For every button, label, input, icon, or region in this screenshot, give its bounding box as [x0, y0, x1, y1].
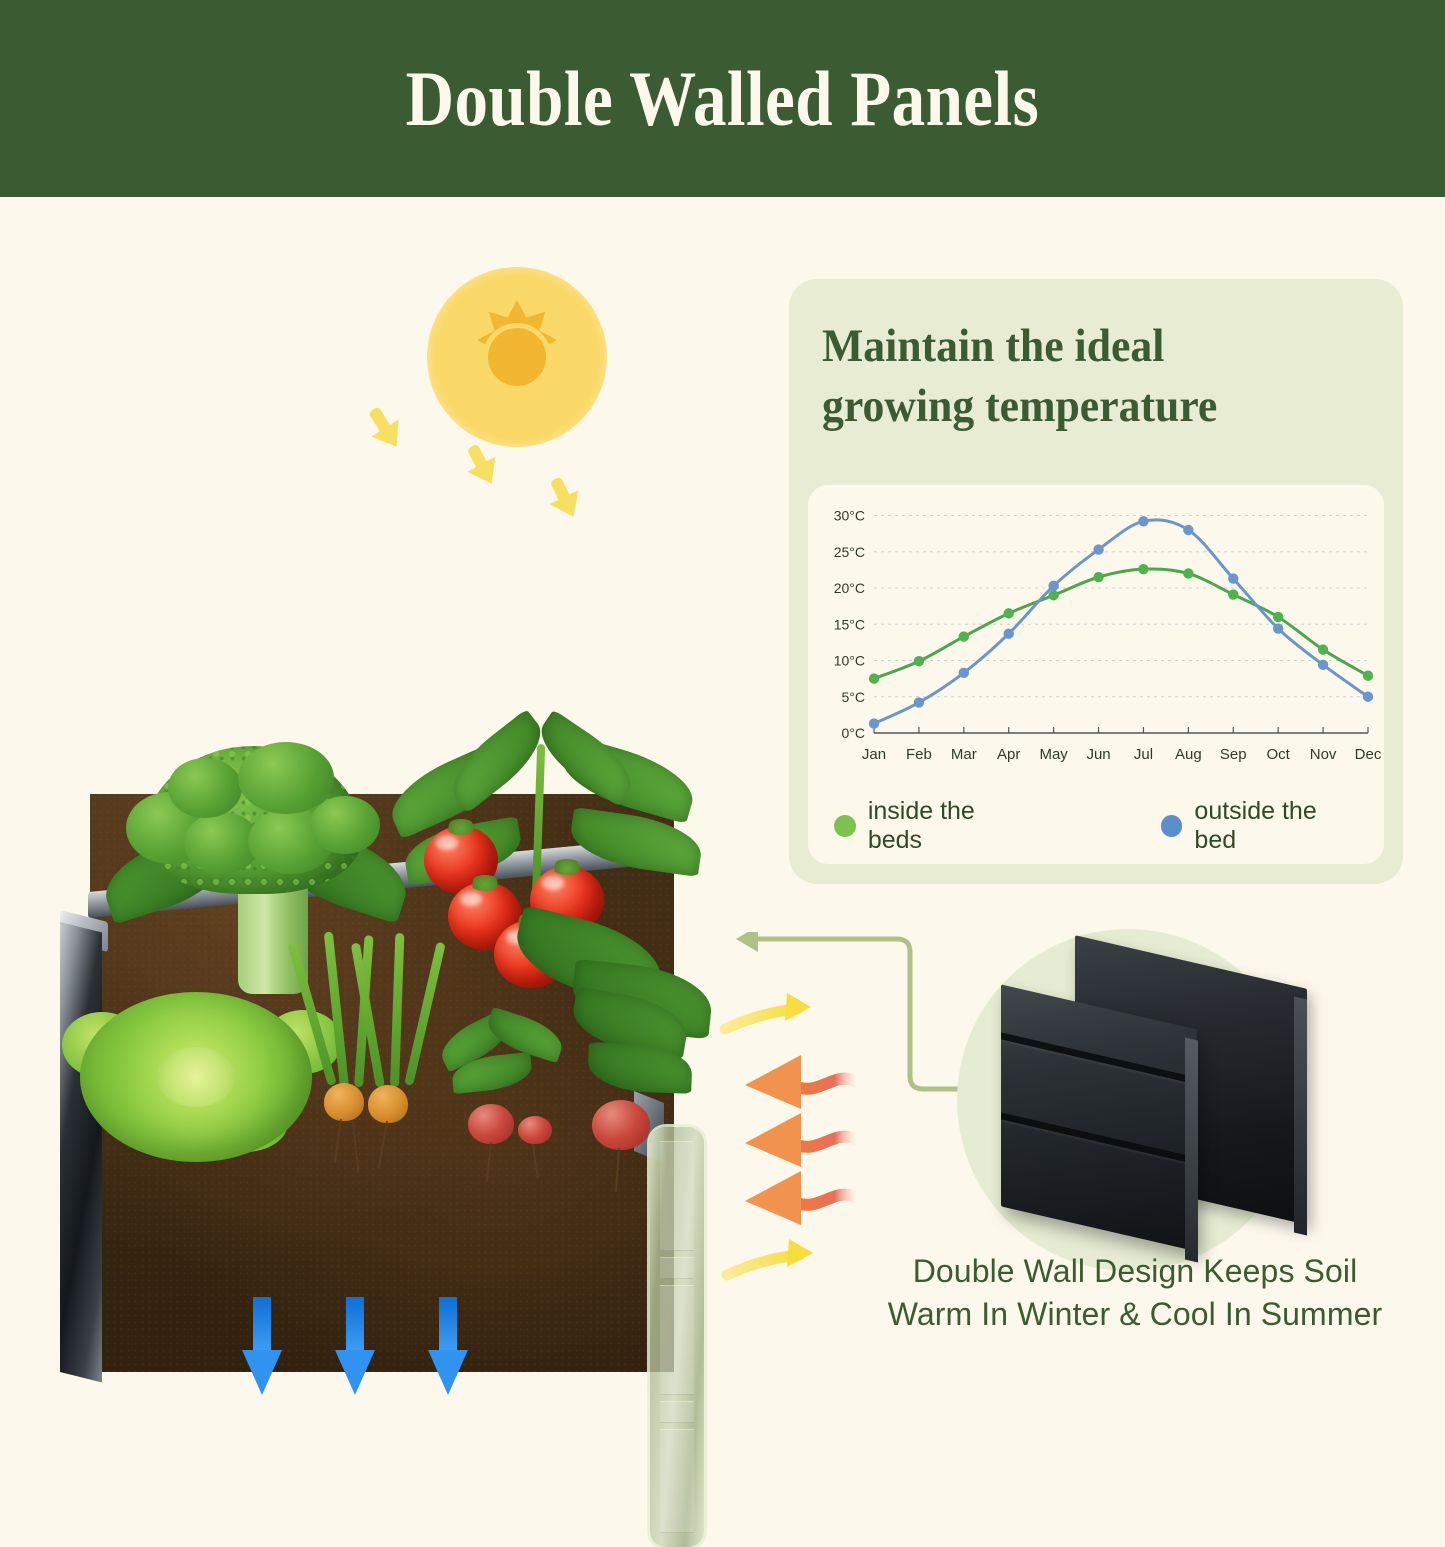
data-point [869, 718, 879, 728]
panel-caption-line-1: Double Wall Design Keeps Soil [855, 1250, 1415, 1293]
data-point [1228, 589, 1238, 599]
x-axis-tick-label: Mar [951, 746, 977, 763]
data-point [1318, 644, 1328, 654]
page-title: Double Walled Panels [406, 54, 1040, 144]
x-axis-tick-label: Dec [1355, 746, 1382, 763]
data-point [959, 631, 969, 641]
sun-icon [427, 267, 607, 447]
chart-heading-line-2: growing temperature [822, 376, 1324, 436]
sun-core [460, 300, 574, 414]
data-point [914, 656, 924, 666]
data-point [869, 673, 879, 683]
x-axis-tick-label: Aug [1175, 746, 1202, 763]
chart-legend: inside the beds outside the bed [834, 797, 1364, 855]
temperature-line-chart: 0°C5°C10°C15°C20°C25°C30°CJanFebMarAprMa… [808, 485, 1384, 785]
legend-dot-outside [1161, 815, 1183, 837]
page-header: Double Walled Panels [0, 0, 1445, 197]
connector-arrow-icon [730, 932, 980, 1122]
x-axis-tick-label: Feb [906, 746, 932, 763]
radish-plants [432, 1000, 692, 1190]
legend-item-outside[interactable]: outside the bed [1161, 797, 1364, 855]
data-point [1093, 572, 1103, 582]
content-stage: Double Wall Design Keeps Soil Warm In Wi… [0, 197, 1445, 1445]
y-axis-tick-label: 10°C [834, 653, 865, 669]
chart-panel: 0°C5°C10°C15°C20°C25°C30°CJanFebMarAprMa… [808, 485, 1384, 864]
heat-wave-arrow-icon [745, 1171, 857, 1225]
panel-caption-line-2: Warm In Winter & Cool In Summer [855, 1293, 1415, 1336]
legend-dot-inside [834, 815, 856, 837]
raised-garden-bed [52, 742, 712, 1382]
data-point [1228, 573, 1238, 583]
y-axis-tick-label: 30°C [834, 508, 865, 524]
x-axis-tick-label: Sep [1220, 746, 1247, 763]
data-point [1363, 692, 1373, 702]
panel-back-edge [1294, 996, 1307, 1235]
data-point [1048, 590, 1058, 600]
y-axis-tick-label: 15°C [834, 616, 865, 632]
y-axis-tick-label: 0°C [842, 725, 866, 741]
x-axis-tick-label: Jan [862, 746, 886, 763]
data-point [959, 668, 969, 678]
legend-item-inside[interactable]: inside the beds [834, 797, 1035, 855]
lettuce-plant [52, 762, 352, 1002]
x-axis-tick-label: Apr [997, 746, 1020, 763]
x-axis-tick-label: Oct [1267, 746, 1291, 763]
y-axis-tick-label: 25°C [834, 544, 865, 560]
cool-arrows-group [242, 1297, 502, 1407]
data-point [1004, 608, 1014, 618]
legend-label-outside: outside the bed [1194, 797, 1364, 855]
data-point [1183, 568, 1193, 578]
y-axis-tick-label: 20°C [834, 580, 865, 596]
light-ray-arrow-icon [727, 1239, 813, 1275]
data-point [1004, 628, 1014, 638]
data-point [1363, 671, 1373, 681]
y-axis-tick-label: 5°C [842, 689, 866, 705]
x-axis-tick-label: Jul [1134, 746, 1153, 763]
data-point [1138, 516, 1148, 526]
legend-label-inside: inside the beds [868, 797, 1035, 855]
chart-heading-line-1: Maintain the ideal [822, 316, 1324, 376]
panel-front-sheet [1001, 984, 1197, 1251]
data-point [1183, 525, 1193, 535]
sun-disc [483, 323, 551, 391]
data-point [914, 697, 924, 707]
x-axis-tick-label: May [1039, 746, 1068, 763]
data-point [1273, 612, 1283, 622]
x-axis-tick-label: Nov [1310, 746, 1337, 763]
bed-wall-right-panel [650, 1127, 704, 1547]
data-point [1273, 623, 1283, 633]
chart-heading: Maintain the ideal growing temperature [822, 316, 1324, 436]
temperature-chart-card: Maintain the ideal growing temperature 0… [789, 279, 1403, 884]
x-axis-tick-label: Jun [1086, 746, 1110, 763]
panel-front-edge [1185, 1037, 1198, 1262]
panel-caption: Double Wall Design Keeps Soil Warm In Wi… [855, 1250, 1415, 1336]
data-point [1093, 544, 1103, 554]
data-point [1318, 660, 1328, 670]
data-point [1138, 564, 1148, 574]
series-line-outside-the-bed [874, 520, 1368, 724]
data-point [1048, 581, 1058, 591]
